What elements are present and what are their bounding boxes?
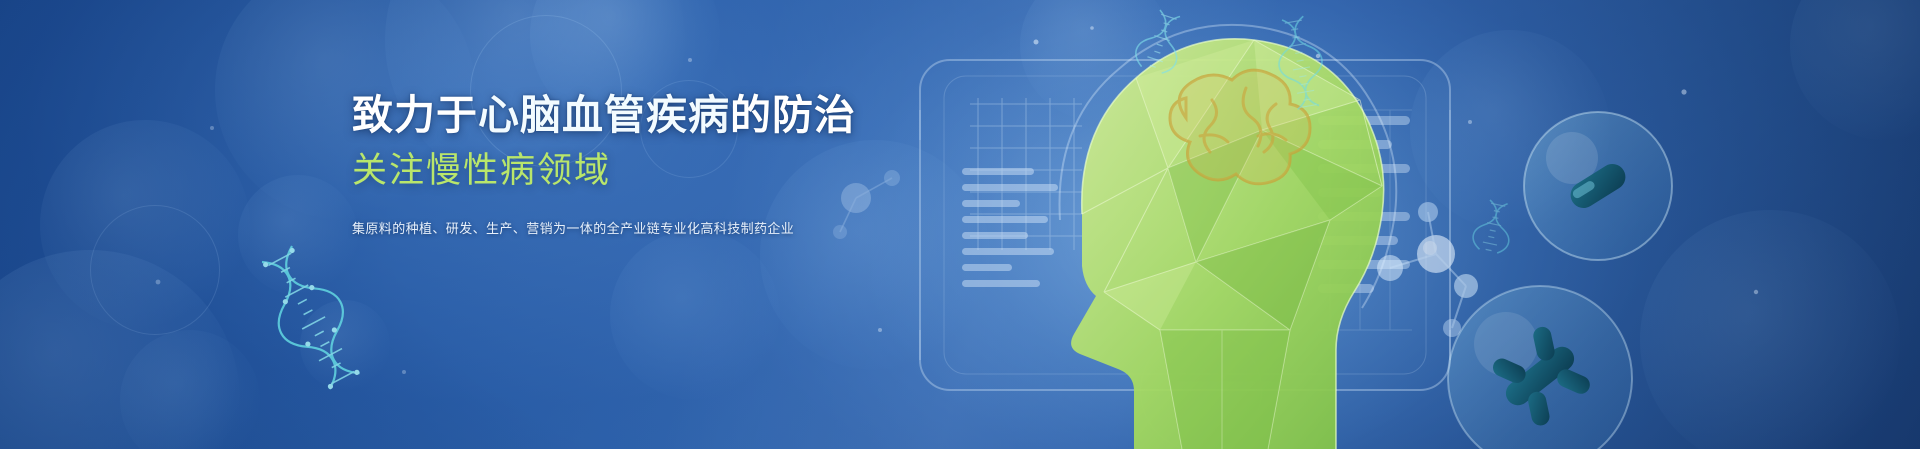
banner-tagline: 集原料的种植、研发、生产、营销为一体的全产业链专业化高科技制药企业 (352, 220, 822, 238)
bokeh-circle (0, 250, 240, 449)
headline-suffix: 的防治 (730, 92, 856, 138)
brain-overlay (1170, 70, 1310, 184)
headline-prefix: 致力于 (352, 92, 478, 138)
dna-helix (247, 238, 374, 397)
bokeh-circle (610, 230, 780, 400)
dna-helix (1132, 7, 1190, 76)
bokeh-ring (90, 205, 220, 335)
cell-bacteria (1524, 112, 1672, 260)
polygonal-human-head (1060, 25, 1397, 449)
artwork-layer (0, 0, 1920, 449)
dna-helix (1271, 14, 1329, 111)
bokeh-circle (1410, 30, 1610, 230)
bokeh-circle (300, 300, 390, 390)
cell-bacteria (1448, 286, 1632, 449)
hud-bars-right (1318, 116, 1410, 293)
molecule-cluster (833, 170, 900, 239)
head-glow (855, 0, 1515, 449)
hud-tech-frame (920, 60, 1450, 390)
dna-helix (1471, 198, 1517, 255)
bokeh-circle (1640, 210, 1900, 449)
bokeh-circle (1020, 0, 1170, 120)
light-sweep (0, 0, 1920, 449)
bokeh-circle (238, 175, 358, 295)
banner-headline: 致力于心脑血管疾病的防治 (352, 92, 822, 140)
headline-highlight: 心脑血管疾病 (478, 92, 730, 138)
banner-copy: 致力于心脑血管疾病的防治 关注慢性病领域 集原料的种植、研发、生产、营销为一体的… (352, 92, 822, 238)
bokeh-ring (1140, 330, 1262, 449)
vignette (0, 0, 1920, 449)
hero-banner: 致力于心脑血管疾病的防治 关注慢性病领域 集原料的种植、研发、生产、营销为一体的… (0, 0, 1920, 449)
hud-grid-right (1318, 110, 1412, 330)
molecule-cluster (1377, 202, 1478, 337)
bokeh-circle (120, 330, 260, 449)
banner-subline: 关注慢性病领域 (352, 150, 822, 192)
bokeh-circle (40, 120, 250, 330)
bokeh-circle (1790, 0, 1920, 140)
hud-bars-left (962, 168, 1058, 287)
hud-data-grid-left (970, 98, 1082, 250)
